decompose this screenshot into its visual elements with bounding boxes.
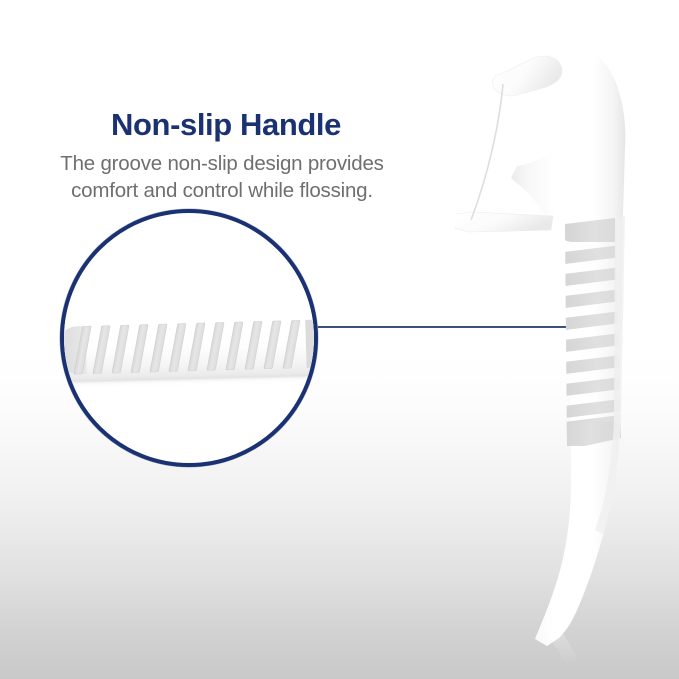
groove-stripe	[283, 320, 301, 369]
lower-prong	[455, 212, 553, 232]
flosser-body	[503, 48, 625, 646]
magnifier-callout-circle	[60, 209, 318, 467]
magnifier-contents	[64, 213, 314, 463]
groove-stripe	[188, 323, 206, 372]
groove-cap-right	[305, 319, 314, 368]
groove-stripe	[245, 321, 263, 370]
magnified-groove-group	[77, 320, 310, 374]
groove-stripe	[93, 325, 111, 374]
subtitle-line-1: The groove non-slip design provides	[12, 150, 432, 177]
subtitle-line-2: comfort and control while flossing.	[12, 177, 432, 204]
product-feature-image: Non-slip Handle The groove non-slip desi…	[0, 0, 679, 679]
floss-string	[471, 84, 503, 220]
groove-stripe	[112, 325, 130, 374]
groove-stripe	[169, 323, 187, 372]
groove-stripe	[150, 324, 168, 373]
flosser-product-image	[455, 18, 679, 679]
groove-stripe	[207, 322, 225, 371]
groove-stripe	[226, 322, 244, 371]
subtitle: The groove non-slip design provides comf…	[12, 150, 432, 204]
groove-stripe	[131, 324, 149, 373]
page-title: Non-slip Handle	[16, 108, 436, 142]
product-reflection	[455, 620, 679, 679]
groove-stripe	[264, 321, 282, 370]
